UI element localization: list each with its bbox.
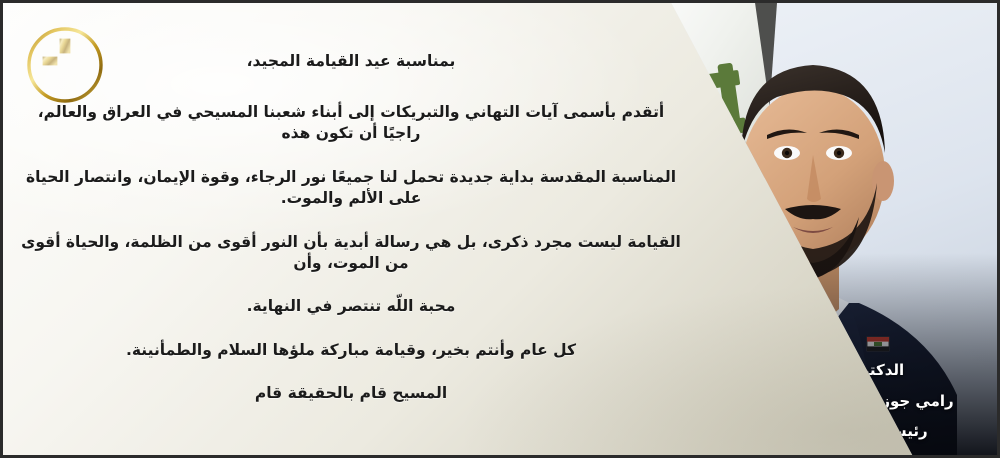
message-heading: بمناسبة عيد القيامة المجيد،	[21, 51, 681, 72]
greeting-message: بمناسبة عيد القيامة المجيد، أتقدم بأسمى …	[21, 51, 681, 404]
message-line-2: المناسبة المقدسة بداية جديدة تحمل لنا جم…	[21, 167, 681, 209]
message-line-4: محبة اللّه تنتصر في النهاية.	[21, 296, 681, 317]
portrait-panel: الدكتور رامي جوزيف آغاجان رئيس الديوان	[627, 3, 997, 458]
message-line-3: القيامة ليست مجرد ذكرى، بل هي رسالة أبدي…	[21, 232, 681, 274]
easter-greeting-card: بمناسبة عيد القيامة المجيد، أتقدم بأسمى …	[0, 0, 1000, 458]
signature-block: الدكتور رامي جوزيف آغاجان رئيس الديوان	[773, 359, 983, 443]
message-line-5: كل عام وأنتم بخير، وقيامة مباركة ملؤها ا…	[21, 340, 681, 361]
signature-role: رئيس الديوان	[773, 420, 983, 443]
message-line-6: المسيح قام بالحقيقة قام	[21, 383, 681, 404]
signature-name: رامي جوزيف آغاجان	[773, 390, 983, 413]
signature-title: الدكتور	[773, 359, 983, 382]
message-line-1: أتقدم بأسمى آيات التهاني والتبريكات إلى …	[21, 102, 681, 144]
